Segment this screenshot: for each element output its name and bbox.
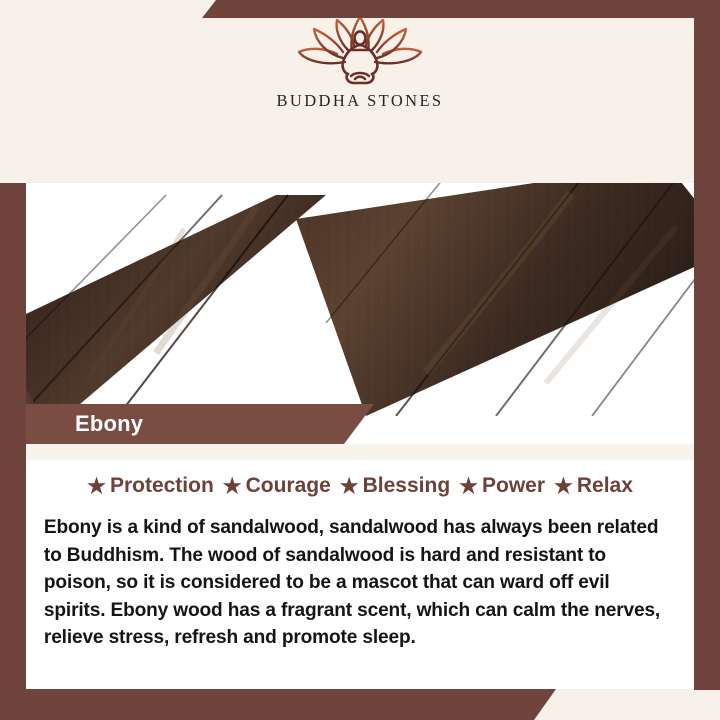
star-icon: ★	[459, 476, 478, 497]
benefit-label: Courage	[246, 474, 331, 498]
frame-top-bar	[202, 0, 720, 18]
benefit-item-protection: ★ Protection	[87, 474, 214, 498]
product-photo	[26, 183, 694, 416]
poster-header: BUDDHA STONES	[0, 0, 720, 185]
star-icon: ★	[87, 476, 106, 497]
benefit-label: Blessing	[363, 474, 451, 498]
product-name-ribbon: Ebony	[26, 404, 374, 444]
benefit-item-courage: ★ Courage	[223, 474, 331, 498]
star-icon: ★	[554, 476, 573, 497]
benefit-item-blessing: ★ Blessing	[340, 474, 450, 498]
star-icon: ★	[340, 476, 359, 497]
benefit-label: Relax	[577, 474, 633, 498]
frame-bottom-bar	[0, 689, 556, 720]
benefit-item-power: ★ Power	[459, 474, 545, 498]
content-section: ★ Protection ★ Courage ★ Blessing ★ Powe…	[26, 444, 694, 689]
product-description: Ebony is a kind of sandalwood, sandalwoo…	[38, 514, 672, 652]
star-icon: ★	[223, 476, 242, 497]
content-top-strip	[26, 444, 694, 460]
lotus-meditation-icon	[285, 14, 435, 88]
brand-name: BUDDHA STONES	[276, 91, 443, 111]
frame-left-bar	[0, 183, 26, 720]
infographic-poster: BUDDHA STONES Stone Features & Benefits	[0, 0, 720, 720]
benefit-label: Power	[482, 474, 545, 498]
benefits-list: ★ Protection ★ Courage ★ Blessing ★ Powe…	[38, 474, 682, 498]
benefit-label: Protection	[110, 474, 214, 498]
benefit-item-relax: ★ Relax	[554, 474, 633, 498]
product-name: Ebony	[75, 411, 143, 437]
frame-right-bar	[694, 0, 720, 690]
